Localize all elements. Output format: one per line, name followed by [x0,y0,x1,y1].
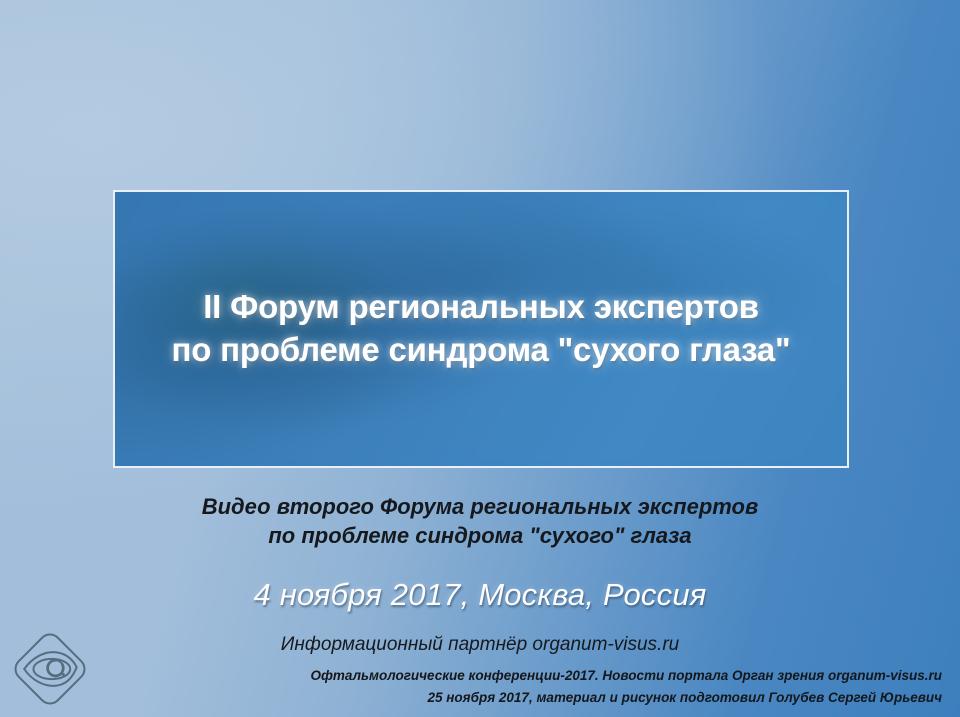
conference-title-line-2: по проблеме синдрома "сухого глаза" [129,329,833,372]
caption-line-2: по проблеме синдрома "сухого" глаза [0,521,960,550]
information-partner: Информационный партнёр organum-visus.ru [0,634,960,657]
conference-title-image: II Форум региональных экспертов по пробл… [113,190,849,468]
caption-line-1: Видео второго Форума региональных экспер… [0,492,960,521]
footer-line-2: 25 ноября 2017, материал и рисунок подго… [310,687,942,709]
footer-credits: Офтальмологические конференции-2017. Нов… [310,665,942,709]
footer-line-1: Офтальмологические конференции-2017. Нов… [310,665,942,687]
event-date-location: 4 ноября 2017, Москва, Россия [0,578,960,612]
eye-in-diamond-logo-icon [4,623,96,715]
conference-title: II Форум региональных экспертов по пробл… [115,286,847,372]
caption-heading-text: Видео второго Форума региональных экспер… [0,492,960,550]
caption-heading: Видео второго Форума региональных экспер… [0,492,960,550]
conference-title-line-1: II Форум региональных экспертов [129,286,833,329]
